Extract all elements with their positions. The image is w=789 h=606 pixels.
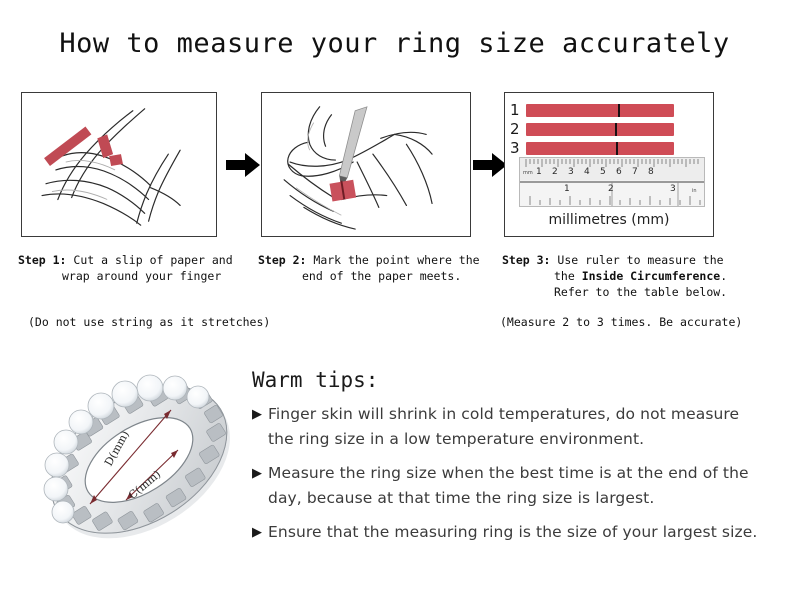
step-2-label: Step 2: (258, 253, 306, 267)
hand-with-paper-strip-illustration (22, 93, 216, 236)
warm-tip-item: ▶ Ensure that the measuring ring is the … (252, 520, 764, 545)
arrow-right-icon (473, 152, 507, 178)
step-1-label: Step 1: (18, 253, 66, 267)
warm-tips-list: ▶ Finger skin will shrink in cold temper… (252, 402, 764, 554)
step-1-note: (Do not use string as it stretches) (28, 315, 270, 329)
measure-strip-row: 3 (510, 139, 674, 157)
step-3-label: Step 3: (502, 253, 550, 267)
ruler-cm-tick: 3 (568, 167, 574, 177)
step-2-caption: Step 2: Mark the point where the end of … (258, 252, 494, 284)
triangle-right-bullet-icon: ▶ (252, 402, 268, 427)
ruler-graphic: mm 1 2 3 4 5 6 7 8 1 2 3 in (519, 157, 705, 207)
ruler-mm-unit-label: mm (523, 170, 533, 176)
ruler-cm-tick: 7 (632, 167, 638, 177)
step-3-line-1: Use ruler to measure the (557, 253, 723, 267)
warm-tip-text: Ensure that the measuring ring is the si… (268, 520, 757, 545)
paper-strip-wrapped (97, 134, 123, 166)
ruler-cm-tick: 6 (616, 167, 622, 177)
strip-number: 1 (510, 101, 526, 119)
warm-tip-item: ▶ Measure the ring size when the best ti… (252, 461, 764, 511)
step-1-caption: Step 1: Cut a slip of paper and wrap aro… (18, 252, 254, 284)
measure-strip-row: 2 (510, 120, 674, 138)
warm-tip-text: Finger skin will shrink in cold temperat… (268, 402, 764, 452)
step-2-illustration-panel (261, 92, 471, 237)
triangle-right-bullet-icon: ▶ (252, 461, 268, 486)
measure-strip-row: 1 (510, 101, 674, 119)
ruler-inch-unit-label: in (692, 188, 697, 194)
paper-strip-red (526, 142, 674, 155)
triangle-right-bullet-icon: ▶ (252, 520, 268, 545)
arrow-right-icon (226, 152, 260, 178)
ruler-cm-tick: 8 (648, 167, 654, 177)
step-1-illustration-panel (21, 92, 217, 237)
strip-mark-tick (615, 123, 617, 136)
inside-circumference-emphasis: Inside Circumference (582, 269, 720, 283)
step-3-line-2-post: . (720, 269, 727, 283)
ruler-inch-tick: 1 (564, 184, 570, 194)
step-1-line-1: Cut a slip of paper and (73, 253, 232, 267)
step-2-line-2: end of the paper meets. (258, 268, 494, 284)
ruler-inch-tick: 3 (670, 184, 676, 194)
step-3-note: (Measure 2 to 3 times. Be accurate) (500, 315, 742, 329)
ruler-cm-tick: 2 (552, 167, 558, 177)
step-3-caption: Step 3: Use ruler to measure the the Ins… (502, 252, 782, 300)
paper-strip-marked (330, 180, 357, 202)
diamond-eternity-ring-photo: D(mm) C(mm) (30, 352, 248, 568)
pen-icon (339, 107, 367, 190)
warm-tip-item: ▶ Finger skin will shrink in cold temper… (252, 402, 764, 452)
warm-tips-heading: Warm tips: (252, 368, 378, 392)
warm-tip-text: Measure the ring size when the best time… (268, 461, 764, 511)
step-1-line-2: wrap around your finger (18, 268, 254, 284)
paper-strip-red (526, 104, 674, 117)
strip-number: 2 (510, 120, 526, 138)
step-3-line-2: the Inside Circumference. (502, 268, 782, 284)
infographic-page: How to measure your ring size accurately (0, 0, 789, 606)
paper-strip-loose (44, 127, 91, 166)
ruler-cm-tick: 1 (536, 167, 542, 177)
ruler-inch-tick: 2 (608, 184, 614, 194)
ruler-unit-caption: millimetres (mm) (504, 212, 714, 228)
page-title: How to measure your ring size accurately (0, 28, 789, 59)
hand-marking-paper-with-pen-illustration (262, 93, 470, 236)
strip-mark-tick (618, 104, 620, 117)
ruler-cm-tick: 5 (600, 167, 606, 177)
paper-strip-red (526, 123, 674, 136)
strip-number: 3 (510, 139, 526, 157)
step-2-line-1: Mark the point where the (313, 253, 479, 267)
strip-mark-tick (616, 142, 618, 155)
step-3-line-3: Refer to the table below. (502, 284, 782, 300)
ruler-cm-tick: 4 (584, 167, 590, 177)
step-3-line-2-pre: the (554, 269, 582, 283)
